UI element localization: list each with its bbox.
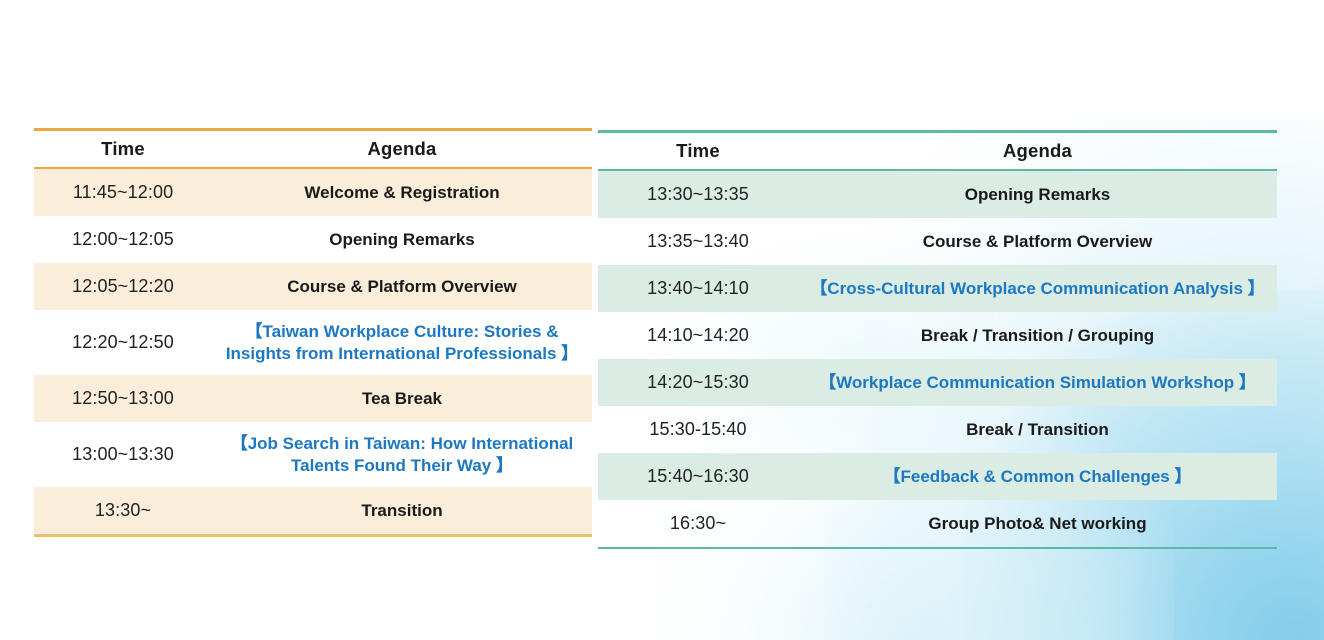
afternoon-table-grid: Time Agenda <box>598 133 1277 169</box>
table-row: 15:30-15:40Break / Transition <box>598 406 1277 453</box>
row-time: 13:35~13:40 <box>598 218 798 265</box>
row-agenda: Group Photo& Net working <box>798 500 1277 547</box>
table-row: 13:35~13:40Course & Platform Overview <box>598 218 1277 265</box>
header-time: Time <box>34 131 212 167</box>
row-time: 12:20~12:50 <box>34 310 212 375</box>
row-time: 14:20~15:30 <box>598 359 798 406</box>
row-agenda-session: 【Cross-Cultural Workplace Communication … <box>798 265 1277 312</box>
row-time: 13:40~14:10 <box>598 265 798 312</box>
table-row: 12:50~13:00Tea Break <box>34 375 592 422</box>
table-row: 12:00~12:05Opening Remarks <box>34 216 592 263</box>
row-time: 12:05~12:20 <box>34 263 212 310</box>
table-row: 13:00~13:30【Job Search in Taiwan: How In… <box>34 422 592 487</box>
morning-agenda-table: Time Agenda 11:45~12:00Welcome & Registr… <box>34 128 592 537</box>
row-agenda-session: 【Feedback & Common Challenges 】 <box>798 453 1277 500</box>
row-agenda: Tea Break <box>212 375 592 422</box>
table-row: 14:20~15:30【Workplace Communication Simu… <box>598 359 1277 406</box>
row-agenda: Welcome & Registration <box>212 169 592 216</box>
table-row: 11:45~12:00Welcome & Registration <box>34 169 592 216</box>
row-agenda: Break / Transition <box>798 406 1277 453</box>
agenda-slide: Time Agenda 11:45~12:00Welcome & Registr… <box>0 0 1324 640</box>
row-agenda: Course & Platform Overview <box>212 263 592 310</box>
table-bottom-rule <box>598 547 1277 549</box>
row-agenda: Opening Remarks <box>212 216 592 263</box>
table-row: 13:40~14:10【Cross-Cultural Workplace Com… <box>598 265 1277 312</box>
row-agenda-session: 【Workplace Communication Simulation Work… <box>798 359 1277 406</box>
table-row: 13:30~13:35Opening Remarks <box>598 171 1277 218</box>
afternoon-agenda-table: Time Agenda 13:30~13:35Opening Remarks13… <box>598 130 1277 549</box>
table-row: 16:30~Group Photo& Net working <box>598 500 1277 547</box>
header-agenda: Agenda <box>212 131 592 167</box>
header-row: Time Agenda <box>598 133 1277 169</box>
header-row: Time Agenda <box>34 131 592 167</box>
afternoon-table-body: 13:30~13:35Opening Remarks13:35~13:40Cou… <box>598 171 1277 547</box>
row-time: 12:00~12:05 <box>34 216 212 263</box>
row-agenda-session: 【Taiwan Workplace Culture: Stories & Ins… <box>212 310 592 375</box>
table-bottom-rule <box>34 534 592 537</box>
row-agenda: Break / Transition / Grouping <box>798 312 1277 359</box>
table-row: 14:10~14:20Break / Transition / Grouping <box>598 312 1277 359</box>
row-time: 13:30~ <box>34 487 212 534</box>
afternoon-table-body-grid: 13:30~13:35Opening Remarks13:35~13:40Cou… <box>598 171 1277 547</box>
row-time: 14:10~14:20 <box>598 312 798 359</box>
table-row: 15:40~16:30【Feedback & Common Challenges… <box>598 453 1277 500</box>
row-time: 13:00~13:30 <box>34 422 212 487</box>
row-time: 12:50~13:00 <box>34 375 212 422</box>
row-time: 11:45~12:00 <box>34 169 212 216</box>
row-time: 15:30-15:40 <box>598 406 798 453</box>
row-agenda: Transition <box>212 487 592 534</box>
header-time: Time <box>598 133 798 169</box>
afternoon-table-header: Time Agenda <box>598 133 1277 169</box>
header-agenda: Agenda <box>798 133 1277 169</box>
morning-table-header: Time Agenda <box>34 131 592 167</box>
morning-table-body-grid: 11:45~12:00Welcome & Registration12:00~1… <box>34 169 592 534</box>
row-agenda: Opening Remarks <box>798 171 1277 218</box>
row-agenda-session: 【Job Search in Taiwan: How International… <box>212 422 592 487</box>
row-time: 15:40~16:30 <box>598 453 798 500</box>
table-row: 13:30~Transition <box>34 487 592 534</box>
table-row: 12:05~12:20Course & Platform Overview <box>34 263 592 310</box>
row-time: 16:30~ <box>598 500 798 547</box>
morning-table-body: 11:45~12:00Welcome & Registration12:00~1… <box>34 169 592 534</box>
row-agenda: Course & Platform Overview <box>798 218 1277 265</box>
morning-table-grid: Time Agenda <box>34 131 592 167</box>
row-time: 13:30~13:35 <box>598 171 798 218</box>
table-row: 12:20~12:50【Taiwan Workplace Culture: St… <box>34 310 592 375</box>
